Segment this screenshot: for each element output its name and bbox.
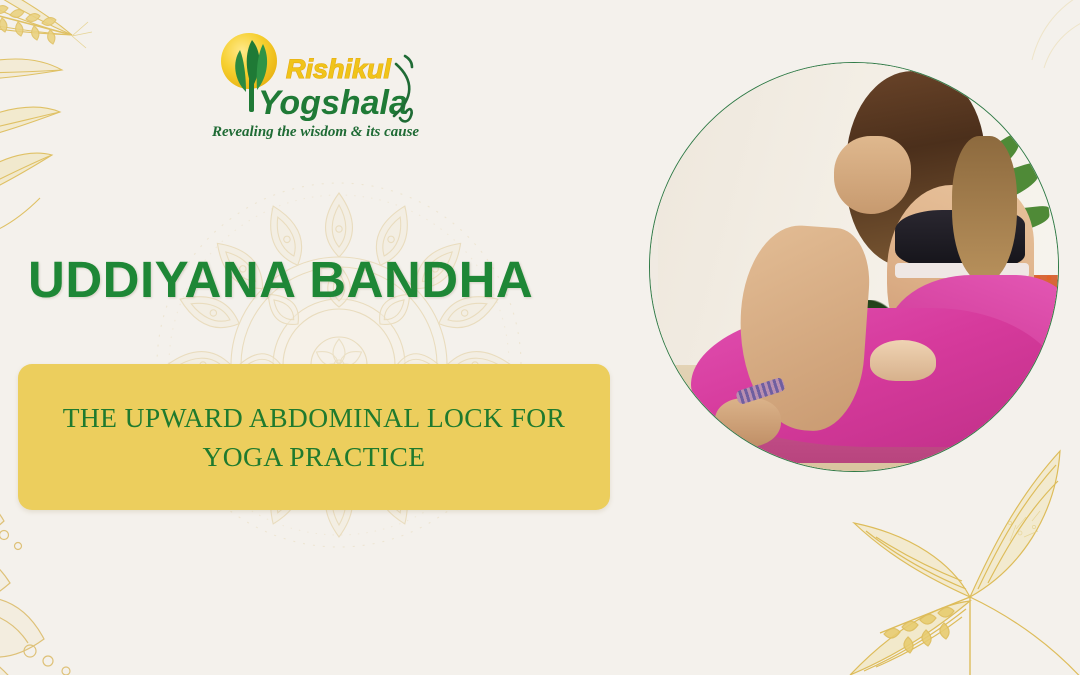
brand-logo-svg: Rishikul Yogshala Revealing the wisdom &… — [200, 26, 448, 146]
subtitle-line-1: THE UPWARD ABDOMINAL LOCK FOR — [63, 402, 566, 433]
photo-hand — [715, 398, 780, 447]
corner-bottom-right-leaf-decoration — [820, 437, 1080, 675]
photo-foot — [870, 340, 935, 381]
subtitle-plaque: THE UPWARD ABDOMINAL LOCK FOR YOGA PRACT… — [18, 364, 610, 510]
yoga-pose-photo — [649, 62, 1059, 472]
corner-top-left-leaf-decoration — [0, 0, 202, 240]
page-title: UDDIYANA BANDHA — [28, 250, 533, 309]
yoga-banner: Rishikul Yogshala Revealing the wisdom &… — [0, 0, 1080, 675]
subtitle-line-2: YOGA PRACTICE — [203, 441, 426, 472]
yoga-pose-photo-scene — [650, 63, 1058, 471]
subtitle-text: THE UPWARD ABDOMINAL LOCK FOR YOGA PRACT… — [41, 398, 588, 476]
logo-tagline: Revealing the wisdom & its cause — [211, 124, 419, 140]
photo-hair-strand — [952, 136, 1017, 283]
logo-word-top: Rishikul — [286, 54, 392, 84]
logo-word-bottom: Yogshala — [258, 84, 408, 122]
brand-logo[interactable]: Rishikul Yogshala Revealing the wisdom &… — [200, 26, 448, 146]
